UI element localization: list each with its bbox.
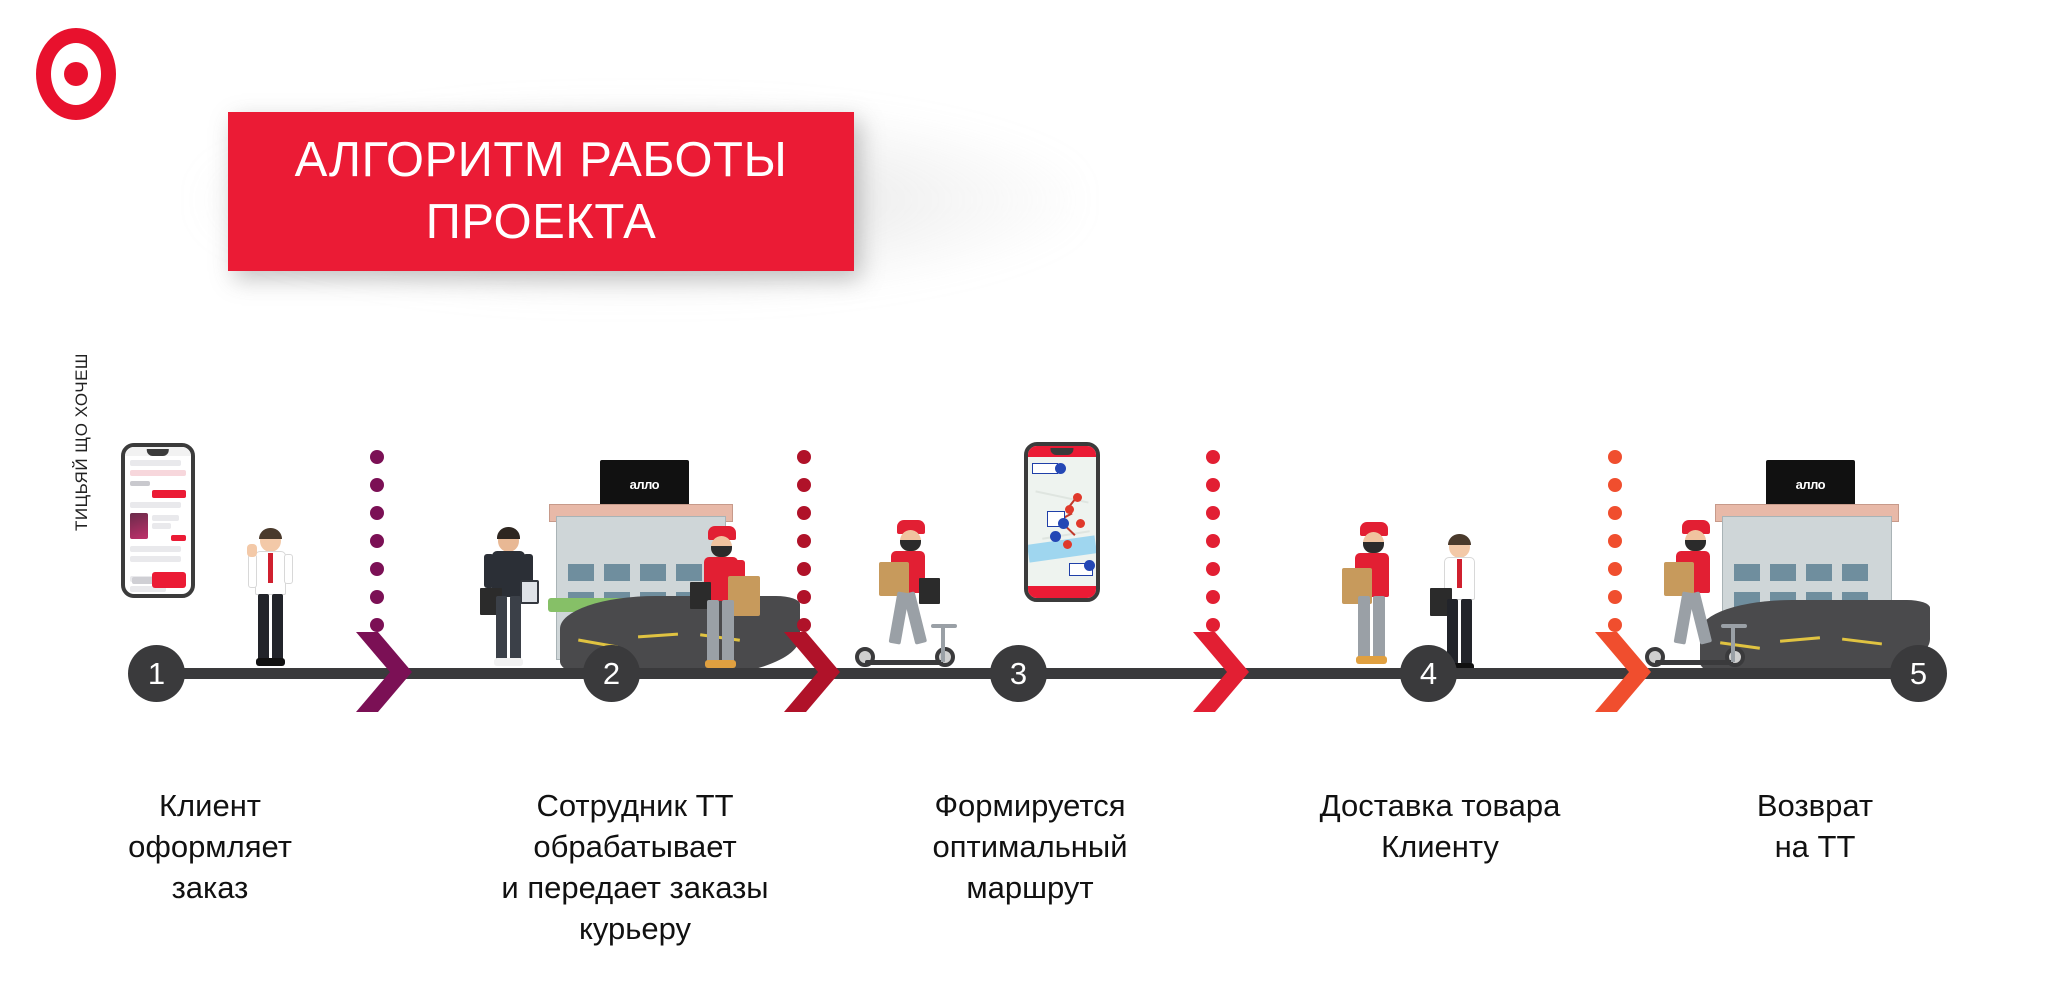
dot [1608,534,1622,548]
order-product [130,513,186,541]
order-section-label [130,481,150,486]
dot [1608,450,1622,464]
courier-leg-right [722,600,734,662]
order-step-row [130,470,186,476]
courier3-bag [919,578,940,604]
step-caption-1: Клиент оформляет заказ [60,786,360,909]
map-marker [1050,531,1061,542]
dot [1206,478,1220,492]
order-payment-row [130,556,181,562]
separator-chevron-4 [1591,630,1653,714]
dot [797,506,811,520]
dot [1608,562,1622,576]
step-marker-2[interactable]: 2 [583,645,640,702]
client4-tie [1457,559,1462,588]
courier4-mask [1363,542,1384,553]
step-number: 4 [1420,656,1437,692]
map-pin [1063,540,1072,549]
map-marker [1058,518,1069,529]
dot [1206,590,1220,604]
separator-dots-1 [370,450,384,646]
order-search-row [130,460,181,466]
separator-chevron-1 [352,630,414,714]
store-window [604,564,630,581]
dot [370,534,384,548]
map-legend-marker [1084,560,1095,571]
scooter-step3 [855,620,965,675]
vertical-tagline: ТИЦЬЯЙ ЩО ХОЧЕШ [72,342,92,542]
scooter5-handlebar [1721,624,1747,628]
store-window [1842,564,1868,581]
dot [1206,506,1220,520]
store-window [1734,564,1760,581]
product-price-row [171,535,186,541]
dot [797,534,811,548]
title-banner: АЛГОРИТМ РАБОТЫ ПРОЕКТА [228,112,854,271]
step-caption-2: Сотрудник ТТ обрабатывает и передает зак… [470,786,800,950]
dot [1206,534,1220,548]
phone-notch [147,449,169,456]
dot [797,478,811,492]
dot [1206,562,1220,576]
separator-chevron-2 [780,630,842,714]
route-map-phone [1024,442,1100,602]
scooter5-stem [1731,624,1735,662]
map-search-marker [1055,463,1066,474]
employee-shoes [494,658,523,666]
store-sign-step5: алло [1766,460,1854,508]
courier-leg-left [707,600,719,662]
step-number: 5 [1910,656,1927,692]
step-caption-3: Формируется оптимальный маршрут [880,786,1180,909]
step-number: 1 [148,656,165,692]
courier5-mask [1685,540,1706,551]
store-sign-step2: алло [600,460,688,508]
step-marker-4[interactable]: 4 [1400,645,1457,702]
courier3-parcel [879,562,909,596]
client-leg-right [272,594,283,660]
separator-dots-4 [1608,450,1622,646]
scooter-step5 [1645,620,1755,675]
client-leg-left [258,594,269,660]
client4-hair [1448,534,1471,545]
dot [797,562,811,576]
employee-leg-left [496,596,507,660]
courier-mask [711,546,732,557]
employee-tablet [520,580,539,604]
page-title: АЛГОРИТМ РАБОТЫ ПРОЕКТА [295,130,788,253]
step-marker-1[interactable]: 1 [128,645,185,702]
store-sign-text: алло [630,477,660,492]
client-figure-step1 [243,530,297,670]
product-sub-row [152,523,171,529]
product-thumb [130,513,148,539]
step-number: 2 [603,656,620,692]
client-thumbs-up-hand [247,544,257,557]
dot [1206,450,1220,464]
step-number: 3 [1010,656,1027,692]
employee-arm-left [484,554,494,588]
map-pin [1076,519,1085,528]
order-city-row [130,502,181,508]
client4-leg-right [1461,599,1472,664]
client-arm-left [248,554,257,588]
map-search-box [1032,463,1058,474]
client-hair [259,528,282,539]
dot [370,478,384,492]
dot [1608,506,1622,520]
employee-hair [497,527,520,539]
dot [797,590,811,604]
dot [370,450,384,464]
employee-figure-step2 [480,530,536,670]
order-delivery-row [130,546,181,552]
scooter-stem [941,624,945,662]
courier3-mask [900,540,921,551]
courier4-leg-left [1358,596,1370,658]
client-shoes [256,658,285,666]
dot [1608,590,1622,604]
employee-leg-right [510,596,521,660]
courier5-parcel [1664,562,1694,596]
order-phone [121,443,195,598]
separator-dots-3 [1206,450,1220,646]
separator-chevron-3 [1189,630,1251,714]
dot [370,506,384,520]
order-field-row-3 [130,596,166,598]
separator-dots-2 [797,450,811,646]
scooter-deck [865,660,943,665]
logo-dot [64,62,88,86]
store-window [1770,564,1796,581]
store-window [640,564,666,581]
dot [1608,478,1622,492]
courier4-shoes [1356,656,1387,664]
map-canvas [1028,457,1096,586]
step-marker-5[interactable]: 5 [1890,645,1947,702]
dot [797,450,811,464]
courier-shoes [705,660,736,668]
map-river [1027,535,1097,562]
store-window [568,564,594,581]
courier4-leg-right [1373,596,1385,658]
map-phone-bottombar [1028,586,1096,598]
order-submit-button[interactable] [152,572,186,588]
order-allo-logo [152,490,186,498]
scooter5-deck [1655,660,1733,665]
allo-target-logo [36,28,116,120]
map-phone-notch [1050,448,1073,455]
courier-figure-step2 [690,528,760,673]
client-tie [268,553,273,583]
client-arm-right [284,554,293,584]
courier-figure-step4 [1340,524,1412,670]
product-name-row [152,515,179,521]
map-pin [1073,493,1082,502]
dot [370,562,384,576]
dot [370,590,384,604]
scooter-handlebar [931,624,957,628]
slide-canvas: АЛГОРИТМ РАБОТЫ ПРОЕКТА ТИЦЬЯЙ ЩО ХОЧЕШ [0,0,2048,986]
map-pin [1065,505,1074,514]
step-caption-5: Возврат на ТТ [1680,786,1950,868]
step-marker-3[interactable]: 3 [990,645,1047,702]
store-sign-text: алло [1796,477,1826,492]
store-window [1806,564,1832,581]
step-caption-4: Доставка товара Клиенту [1280,786,1600,868]
